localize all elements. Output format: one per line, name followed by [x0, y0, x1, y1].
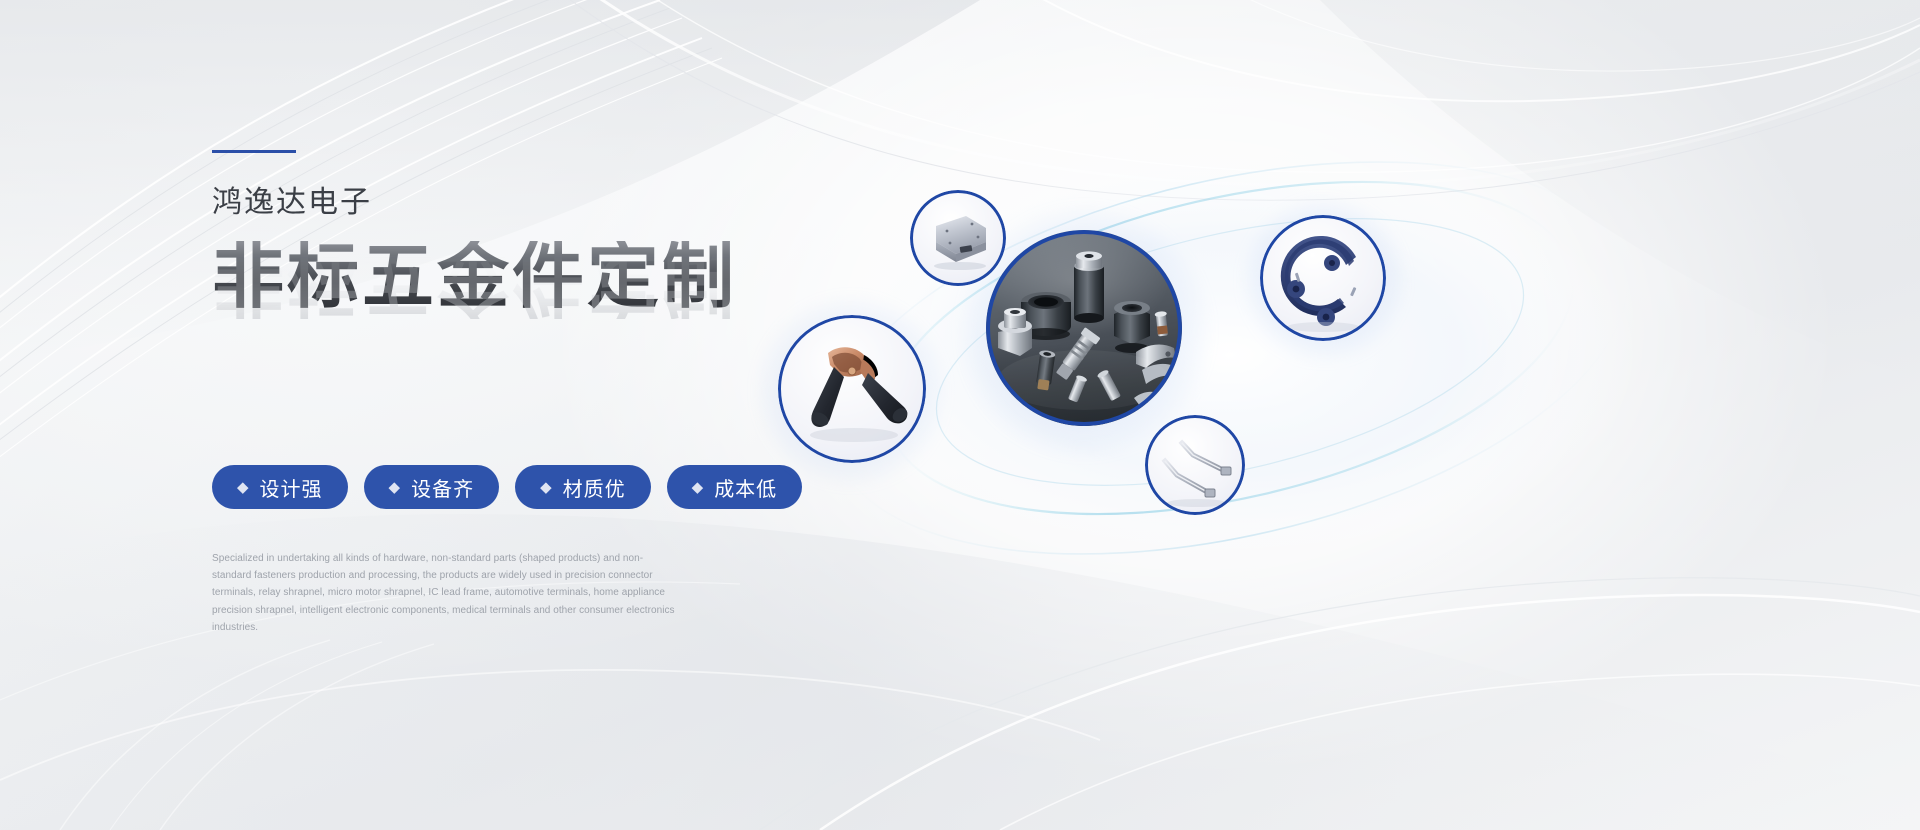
- bent-terminal-illustration: [1145, 415, 1245, 515]
- hero-description: Specialized in undertaking all kinds of …: [212, 550, 682, 636]
- feature-badge-equipment[interactable]: ◆ 设备齐: [364, 465, 500, 509]
- page-title-reflection: 非标五金件定制: [212, 247, 737, 319]
- diamond-icon: ◆: [692, 480, 705, 495]
- product-photo-battery-clamp[interactable]: [778, 315, 926, 463]
- feature-badge-material[interactable]: ◆ 材质优: [515, 465, 651, 509]
- feature-badge-design[interactable]: ◆ 设计强: [212, 465, 348, 509]
- diamond-icon: ◆: [389, 480, 402, 495]
- product-photo-machined-parts[interactable]: [986, 230, 1182, 426]
- feature-badge-label: 设计强: [260, 473, 323, 502]
- product-photo-bent-terminals[interactable]: [1145, 415, 1245, 515]
- accent-rule: [212, 150, 296, 153]
- product-photo-retaining-ring[interactable]: [1260, 215, 1386, 341]
- feature-badge-list: ◆ 设计强 ◆ 设备齐 ◆ 材质优 ◆ 成本低: [212, 465, 802, 509]
- product-visual-cluster: [760, 120, 1900, 600]
- battery-clamp-illustration: [778, 315, 926, 463]
- brand-name: 鸿逸达电子: [212, 186, 772, 219]
- hero-text-column: 鸿逸达电子 非标五金件定制 非标五金件定制: [212, 150, 772, 391]
- diamond-icon: ◆: [237, 480, 250, 495]
- machined-parts-illustration: [986, 230, 1182, 426]
- feature-badge-label: 设备齐: [411, 473, 474, 502]
- retaining-ring-illustration: [1260, 215, 1386, 341]
- feature-badge-label: 材质优: [563, 473, 626, 502]
- diamond-icon: ◆: [540, 480, 553, 495]
- headline-group: 非标五金件定制 非标五金件定制: [212, 241, 772, 391]
